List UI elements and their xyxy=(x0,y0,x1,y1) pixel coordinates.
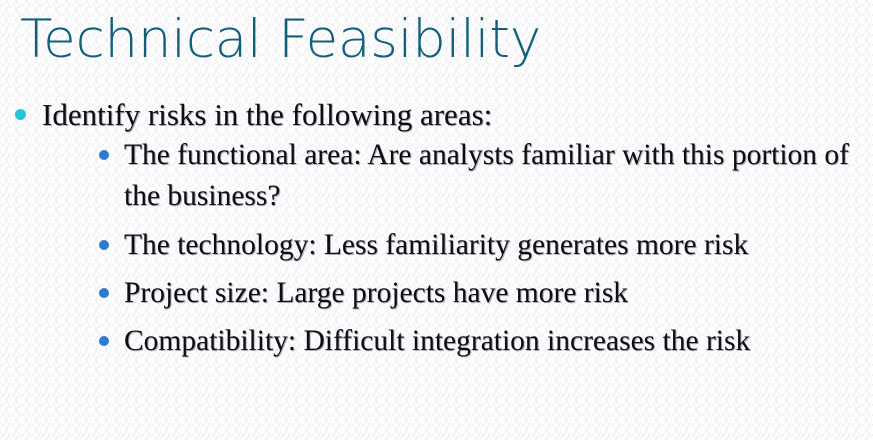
list-item[interactable]: Compatibility: Difficult integration inc… xyxy=(42,321,873,362)
filled-circle-bullet-icon xyxy=(99,150,109,160)
filled-circle-bullet-icon xyxy=(99,336,109,346)
list-item[interactable]: Project size: Large projects have more r… xyxy=(42,273,873,314)
filled-circle-bullet-icon xyxy=(15,109,26,120)
slide-body-placeholder[interactable]: Identify risks in the following areas: T… xyxy=(0,95,873,364)
bullet-level2-label-functional-area: The functional area: Are analysts famili… xyxy=(124,135,873,217)
bullet-level2-label-compatibility: Compatibility: Difficult integration inc… xyxy=(124,321,873,362)
list-item[interactable]: The technology: Less familiarity generat… xyxy=(42,225,873,266)
bullet-list-level2: The functional area: Are analysts famili… xyxy=(42,135,873,362)
bullet-list-level1: Identify risks in the following areas: T… xyxy=(0,95,873,362)
bullet-level2-label-project-size: Project size: Large projects have more r… xyxy=(124,273,873,314)
slide-title-placeholder[interactable]: Technical Feasibility xyxy=(20,4,853,80)
filled-circle-bullet-icon xyxy=(99,240,109,250)
page-title: Technical Feasibility xyxy=(20,4,853,76)
filled-circle-bullet-icon xyxy=(99,288,109,298)
list-item[interactable]: Identify risks in the following areas: T… xyxy=(0,95,873,362)
bullet-level1-label: Identify risks in the following areas: xyxy=(42,97,492,132)
list-item[interactable]: The functional area: Are analysts famili… xyxy=(42,135,873,217)
presentation-slide: Technical Feasibility Identify risks in … xyxy=(0,0,873,440)
bullet-level2-label-technology: The technology: Less familiarity generat… xyxy=(124,225,873,266)
